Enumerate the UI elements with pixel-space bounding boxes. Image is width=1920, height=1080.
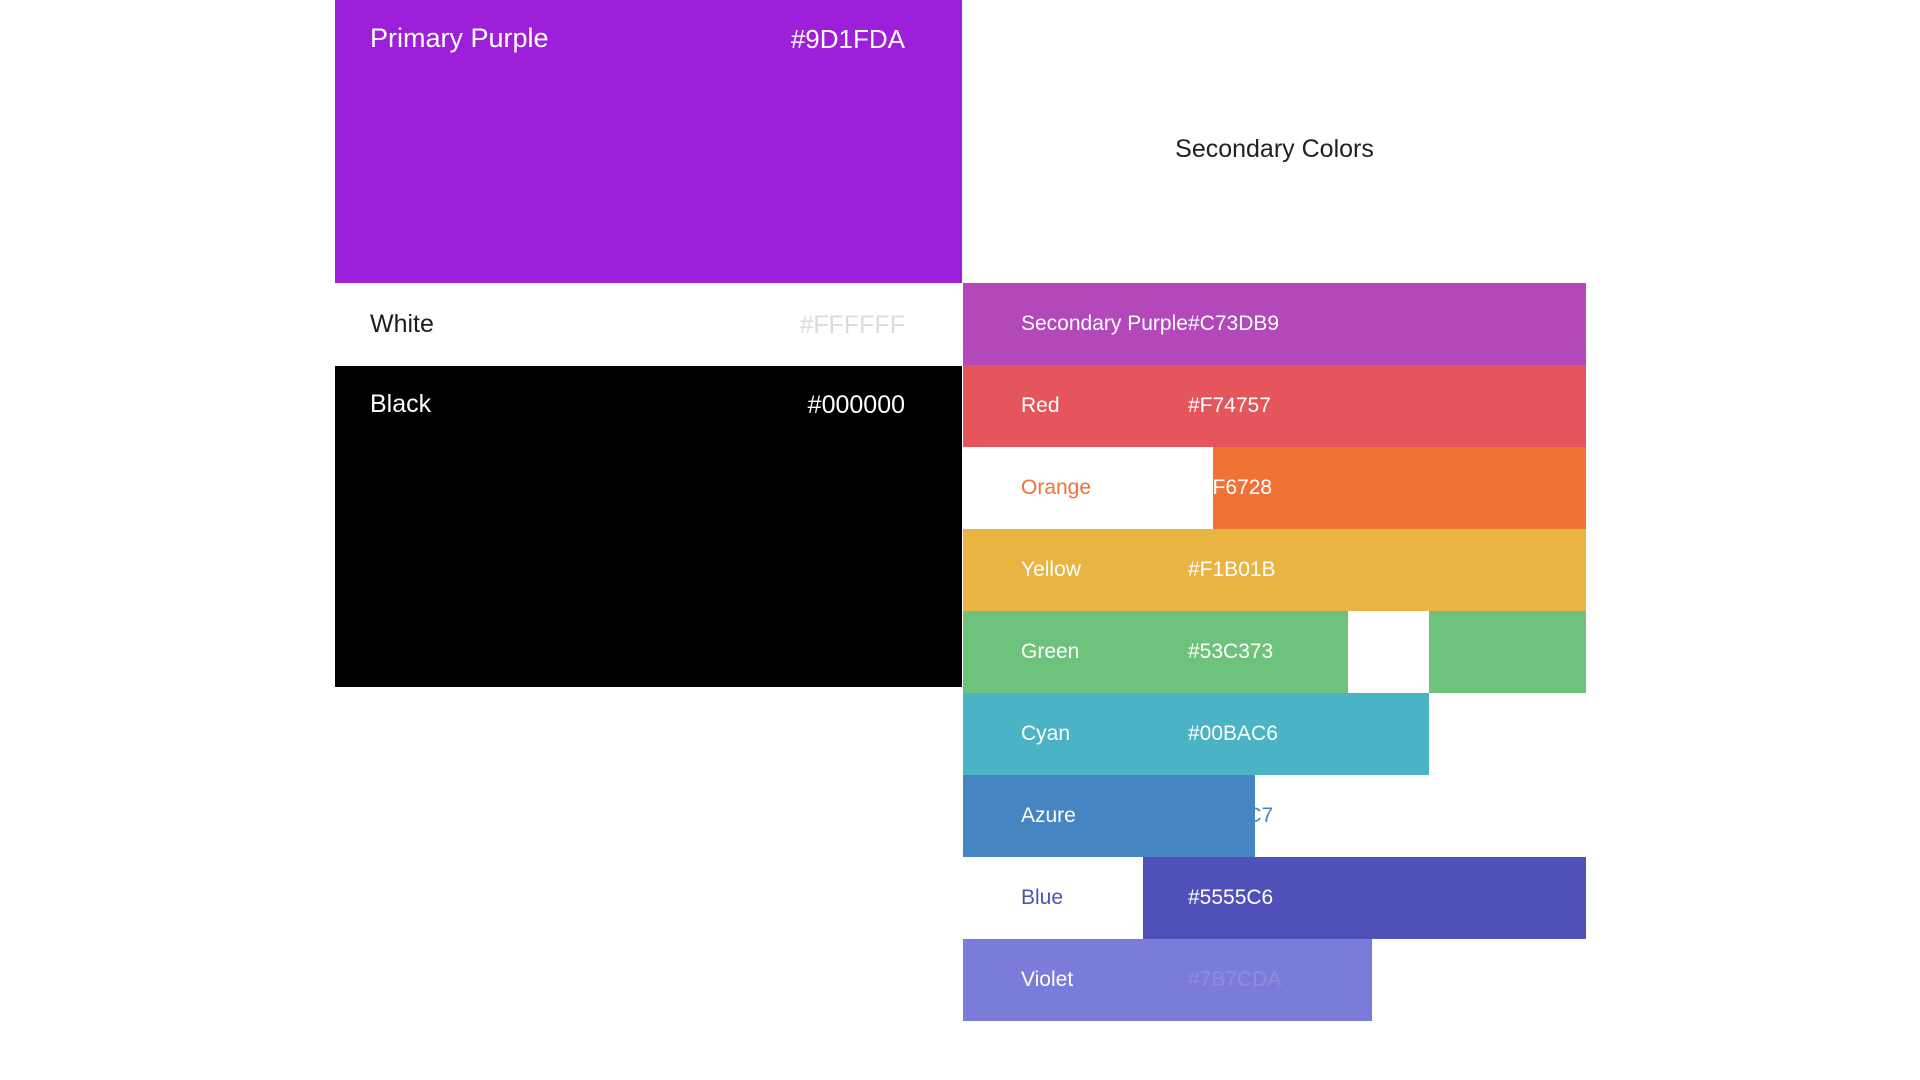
swatch-black[interactable]: Black #000000 — [335, 366, 962, 687]
swatch-label: Red — [1021, 394, 1060, 418]
swatch-label: Cyan — [1021, 722, 1070, 746]
swatch-hex: #F1B01B — [1188, 558, 1276, 582]
swatch-hex: #FFFFFF — [799, 311, 905, 340]
swatch-azure[interactable]: Azure#3486C7 — [963, 775, 1586, 857]
swatch-white[interactable]: White #FFFFFF — [335, 283, 962, 366]
swatch-hex: #F74757 — [1188, 394, 1271, 418]
swatch-label: Blue — [1021, 886, 1063, 910]
swatch-label: Orange — [1021, 476, 1091, 500]
swatch-hex: #5555C6 — [1188, 886, 1273, 910]
swatch-label: Secondary Purple — [1021, 312, 1188, 336]
swatch-label: Black — [370, 390, 431, 419]
swatch-label: Green — [1021, 640, 1079, 664]
swatch-secondary-purple[interactable]: Secondary Purple#C73DB9 — [963, 283, 1586, 365]
secondary-colors-heading: Secondary Colors — [963, 135, 1586, 164]
swatch-blue[interactable]: Blue#5555C6 — [963, 857, 1586, 939]
swatch-yellow[interactable]: Yellow#F1B01B — [963, 529, 1586, 611]
swatch-primary-purple[interactable]: Primary Purple #9D1FDA — [335, 0, 962, 283]
swatch-label: Azure — [1021, 804, 1076, 828]
swatch-label: Yellow — [1021, 558, 1081, 582]
swatch-bar-segment — [1429, 611, 1586, 693]
swatch-violet[interactable]: Violet#7B7CDA — [963, 939, 1586, 1021]
swatch-hex: #9D1FDA — [791, 24, 905, 55]
color-palette-canvas: Primary Purple #9D1FDA White #FFFFFF Bla… — [0, 0, 1920, 1080]
swatch-orange[interactable]: Orange#FF6728 — [963, 447, 1586, 529]
swatch-label: White — [370, 310, 434, 339]
swatch-green[interactable]: Green#53C373 — [963, 611, 1586, 693]
swatch-cyan[interactable]: Cyan#00BAC6 — [963, 693, 1586, 775]
swatch-hex: #7B7CDA — [1188, 968, 1281, 992]
swatch-hex: #3486C7 — [1188, 804, 1273, 828]
swatch-hex: #00BAC6 — [1188, 722, 1278, 746]
swatch-label: Primary Purple — [370, 23, 549, 54]
swatch-red[interactable]: Red#F74757 — [963, 365, 1586, 447]
swatch-hex: #FF6728 — [1188, 476, 1272, 500]
swatch-label: Violet — [1021, 968, 1073, 992]
swatch-hex: #C73DB9 — [1188, 312, 1279, 336]
swatch-hex: #000000 — [808, 391, 905, 420]
swatch-hex: #53C373 — [1188, 640, 1273, 664]
